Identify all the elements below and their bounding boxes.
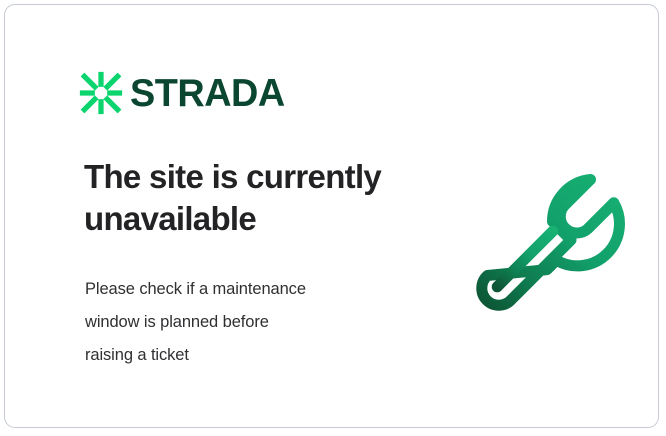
maintenance-page: STRADA The site is currently unavailable…	[0, 0, 666, 436]
brand-logo: STRADA	[79, 71, 290, 115]
wrench-icon	[457, 153, 625, 317]
status-card: STRADA The site is currently unavailable…	[4, 4, 659, 428]
page-description: Please check if a maintenance window is …	[85, 273, 415, 372]
strada-asterisk-icon	[79, 71, 123, 115]
brand-wordmark: STRADA	[130, 74, 285, 113]
page-title: The site is currently unavailable	[84, 156, 424, 239]
description-line: Please check if a maintenance	[85, 273, 415, 306]
description-line: raising a ticket	[85, 339, 415, 372]
description-line: window is planned before	[85, 306, 415, 339]
